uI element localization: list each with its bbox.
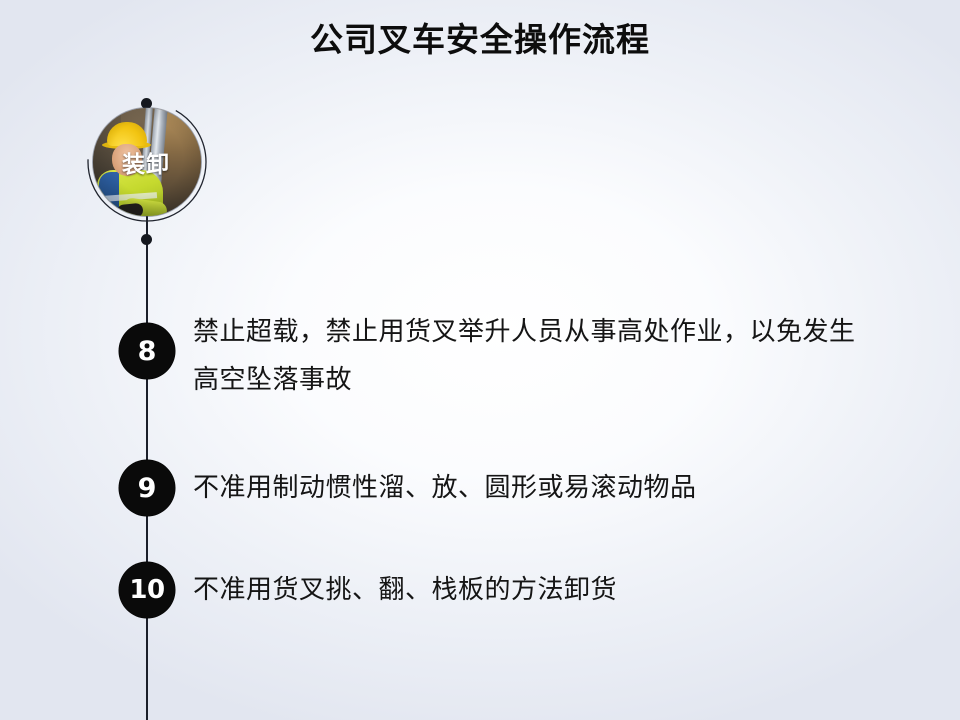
step-number-badge: 8: [119, 323, 175, 379]
step-number-badge: 10: [119, 562, 175, 618]
step-text: 禁止超载，禁止用货叉举升人员从事高处作业，以免发生高空坠落事故: [193, 308, 858, 404]
step-text: 不准用制动惯性溜、放、圆形或易滚动物品: [193, 464, 853, 512]
page-title: 公司叉车安全操作流程: [0, 18, 960, 62]
photo-node-loading-unloading[interactable]: 装卸: [85, 100, 209, 224]
slide-canvas: 公司叉车安全操作流程 装卸 8 禁止超载，禁止用货叉举升人员从事高: [0, 0, 960, 720]
timeline-dot-bottom: [141, 234, 152, 245]
photo-node-label: 装卸: [85, 100, 209, 224]
step-number-badge: 9: [119, 460, 175, 516]
step-text: 不准用货叉挑、翻、栈板的方法卸货: [193, 566, 853, 614]
